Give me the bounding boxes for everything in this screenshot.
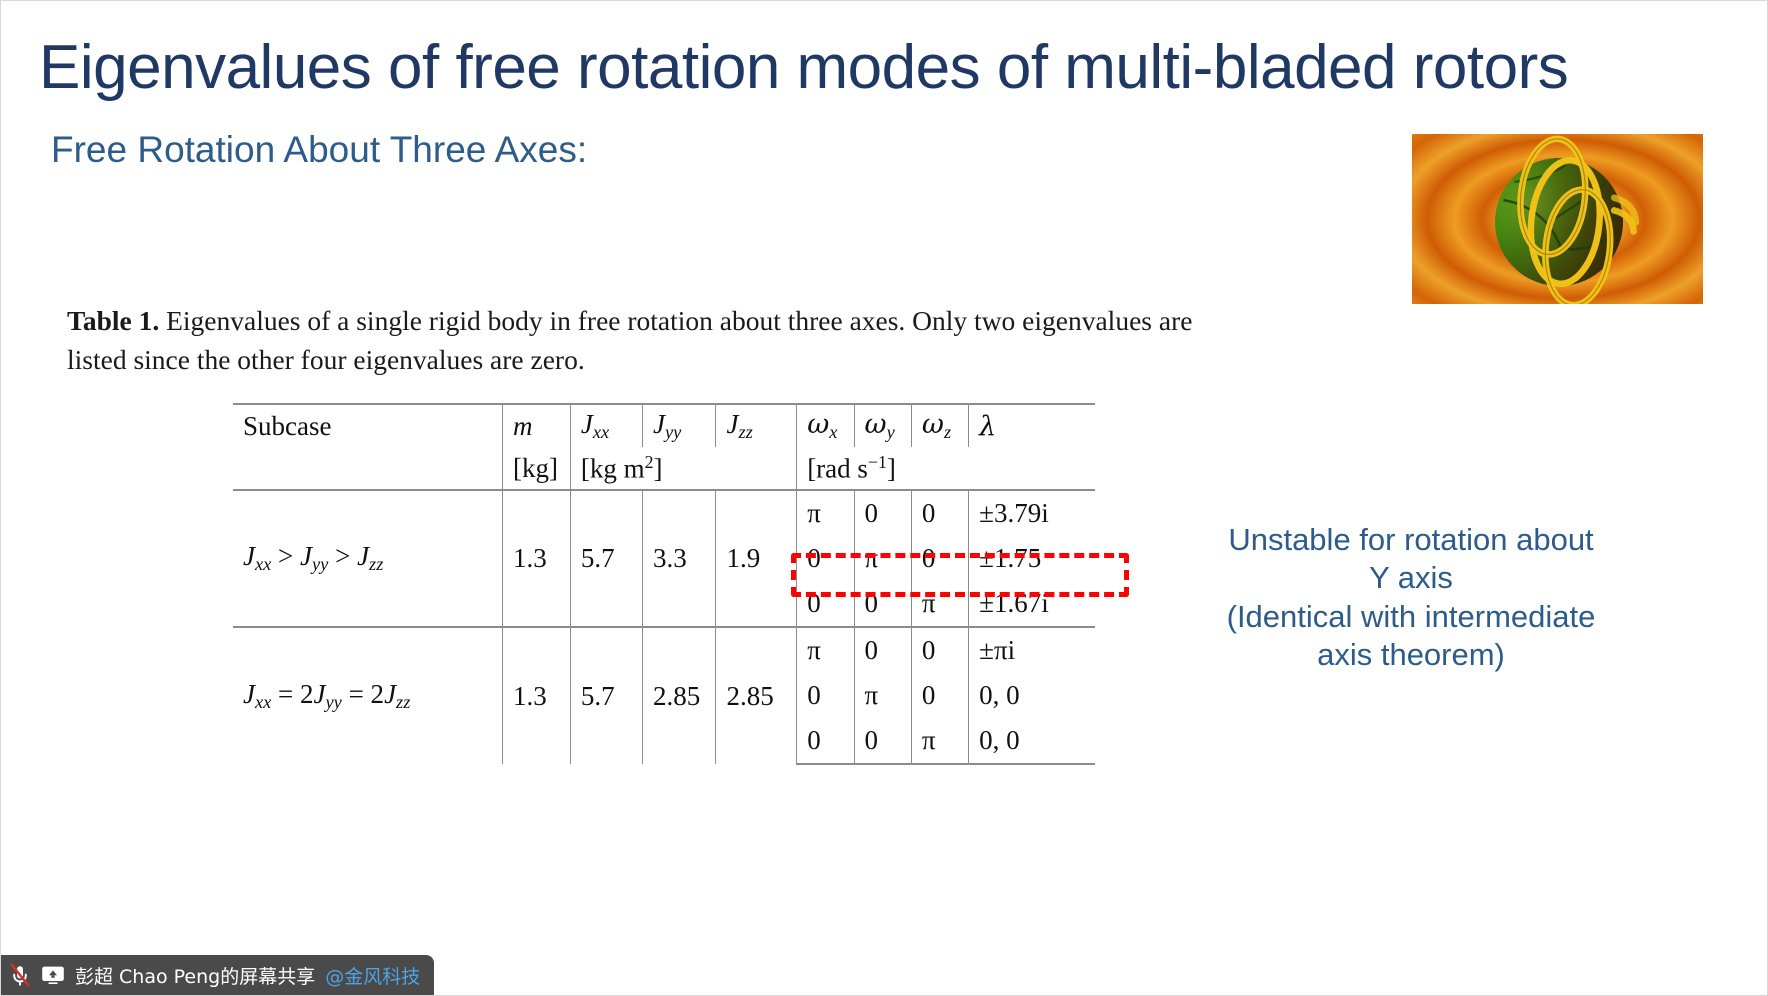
- cell-lambda: ±1.75: [969, 536, 1095, 581]
- cell-jxx-1: 5.7: [570, 490, 642, 627]
- cell-wz: π: [911, 581, 968, 627]
- cell-m-2: 1.3: [503, 627, 571, 764]
- spinning-volleyball-image: [1412, 134, 1703, 304]
- cell-wy: 0: [854, 627, 911, 673]
- table-caption-label: Table 1.: [67, 305, 159, 336]
- cell-wy: 0: [854, 581, 911, 627]
- units-inertia: [kg m2]: [570, 447, 796, 490]
- cell-lambda: ±πi: [969, 627, 1095, 673]
- page-title: Eigenvalues of free rotation modes of mu…: [39, 35, 1689, 102]
- microphone-muted-icon[interactable]: [9, 963, 31, 987]
- cell-wz: 0: [911, 627, 968, 673]
- cell-jzz-1: 1.9: [716, 490, 797, 627]
- cell-wy: 0: [854, 490, 911, 536]
- cell-wx: 0: [797, 718, 854, 764]
- header-jxx: Jxx: [570, 404, 642, 447]
- cell-jzz-2: 2.85: [716, 627, 797, 764]
- cell-subcase-1: Jxx > Jyy > Jzz: [233, 490, 503, 627]
- units-rate: [rad s−1]: [797, 447, 1095, 490]
- share-presenter-label: 彭超 Chao Peng的屏幕共享: [75, 962, 315, 989]
- cell-wz: 0: [911, 536, 968, 581]
- cell-lambda: 0, 0: [969, 673, 1095, 718]
- annotation-line-3: (Identical with intermediate: [1191, 598, 1631, 636]
- header-subcase: Subcase: [233, 404, 503, 447]
- cell-wx: 0: [797, 581, 854, 627]
- header-omega-x: ωx: [797, 404, 854, 447]
- table-caption-text: Eigenvalues of a single rigid body in fr…: [67, 305, 1192, 375]
- cell-wy: π: [854, 673, 911, 718]
- cell-subcase-2: Jxx = 2Jyy = 2Jzz: [233, 627, 503, 764]
- share-handle-label: @金风科技: [325, 962, 420, 989]
- header-jyy: Jyy: [643, 404, 716, 447]
- section-subtitle: Free Rotation About Three Axes:: [51, 129, 587, 171]
- header-jzz: Jzz: [716, 404, 797, 447]
- header-lambda: λ: [969, 404, 1095, 447]
- cell-wz: 0: [911, 490, 968, 536]
- header-omega-y: ωy: [854, 404, 911, 447]
- table-row: Jxx = 2Jyy = 2Jzz 1.3 5.7 2.85 2.85 π 0 …: [233, 627, 1095, 673]
- cell-lambda: ±3.79i: [969, 490, 1095, 536]
- cell-jyy-2: 2.85: [643, 627, 716, 764]
- annotation-line-2: Y axis: [1191, 559, 1631, 597]
- units-blank: [233, 447, 503, 490]
- cell-wx: π: [797, 490, 854, 536]
- cell-lambda: 0, 0: [969, 718, 1095, 764]
- cell-wx: π: [797, 627, 854, 673]
- annotation-text: Unstable for rotation about Y axis (Iden…: [1191, 521, 1631, 675]
- annotation-line-1: Unstable for rotation about: [1191, 521, 1631, 559]
- units-mass: [kg]: [503, 447, 571, 490]
- cell-wx: 0: [797, 536, 854, 581]
- cell-wz: 0: [911, 673, 968, 718]
- eigenvalue-table: Subcase m Jxx Jyy Jzz ωx ωy ωz λ [kg] [k…: [233, 403, 1095, 765]
- cell-wz: π: [911, 718, 968, 764]
- annotation-line-4: axis theorem): [1191, 636, 1631, 674]
- table-units-row: [kg] [kg m2] [rad s−1]: [233, 447, 1095, 490]
- cell-lambda: ±1.67i: [969, 581, 1095, 627]
- cell-jyy-1: 3.3: [643, 490, 716, 627]
- cell-wy: 0: [854, 718, 911, 764]
- table-header-row: Subcase m Jxx Jyy Jzz ωx ωy ωz λ: [233, 404, 1095, 447]
- table-row: Jxx > Jyy > Jzz 1.3 5.7 3.3 1.9 π 0 0 ±3…: [233, 490, 1095, 536]
- header-mass: m: [503, 404, 571, 447]
- cell-wy: π: [854, 536, 911, 581]
- screen-share-bar[interactable]: 彭超 Chao Peng的屏幕共享 @金风科技: [1, 955, 434, 995]
- screen-share-icon[interactable]: [41, 965, 65, 985]
- table-caption: Table 1. Eigenvalues of a single rigid b…: [67, 301, 1257, 379]
- slide-canvas: Eigenvalues of free rotation modes of mu…: [0, 0, 1768, 996]
- header-omega-z: ωz: [911, 404, 968, 447]
- cell-jxx-2: 5.7: [570, 627, 642, 764]
- cell-wx: 0: [797, 673, 854, 718]
- cell-m-1: 1.3: [503, 490, 571, 627]
